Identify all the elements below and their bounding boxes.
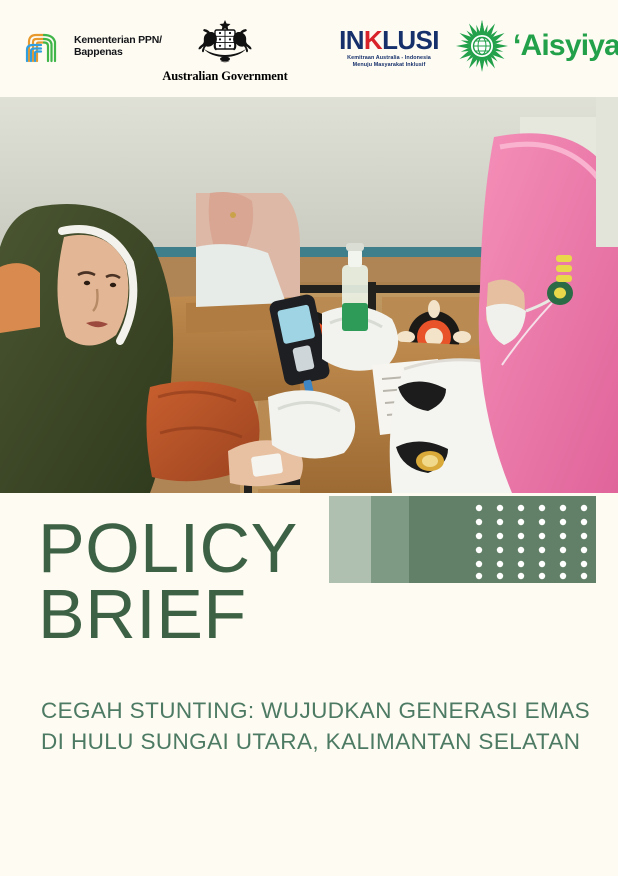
aisyiyah-logo: ‘Aisyiyah [455,19,618,73]
aisyiyah-label: ‘Aisyiyah [513,31,618,61]
australian-government-label: Australian Government [160,69,290,84]
dot-grid-pattern-icon [470,496,596,583]
inklusi-word-part-k: K [364,25,382,55]
deco-bar-medium [371,496,409,583]
commonwealth-coat-of-arms-icon [160,16,290,68]
subtitle-line-2: DI HULU SUNGAI UTARA, KALIMANTAN SELATAN [41,727,586,758]
title-line-1: POLICY [38,516,298,582]
bappenas-mark-icon [22,28,66,64]
title-line-2: BRIEF [38,582,298,648]
deco-bar-light [329,496,371,583]
inklusi-word-part-2: LUSI [382,25,439,55]
subtitle-line-1: CEGAH STUNTING: WUJUDKAN GENERASI EMAS [41,696,586,727]
aisyiyah-sun-emblem-icon [455,19,509,73]
cover-photo: Jolly [0,97,618,493]
bappenas-logo: Kementerian PPN/ Bappenas [22,28,162,64]
inklusi-tagline: Kemitraan Australia - Indonesia Menuju M… [337,55,441,70]
inklusi-word-part-1: IN [339,25,364,55]
policy-brief-cover-page: Kementerian PPN/ Bappenas [0,0,618,876]
cover-photo-illustration: Jolly [0,97,618,493]
page-title: POLICY BRIEF [38,516,298,648]
deco-bar-dark [409,496,596,583]
decorative-bars [329,496,596,583]
inklusi-logo: INKLUSI Kemitraan Australia - Indonesia … [337,27,441,70]
page-subtitle: CEGAH STUNTING: WUJUDKAN GENERASI EMAS D… [41,696,586,757]
bappenas-label: Kementerian PPN/ Bappenas [74,34,162,59]
inklusi-wordmark: INKLUSI [337,27,441,53]
australian-government-logo: Australian Government [160,16,290,84]
logo-bar: Kementerian PPN/ Bappenas [0,0,618,97]
